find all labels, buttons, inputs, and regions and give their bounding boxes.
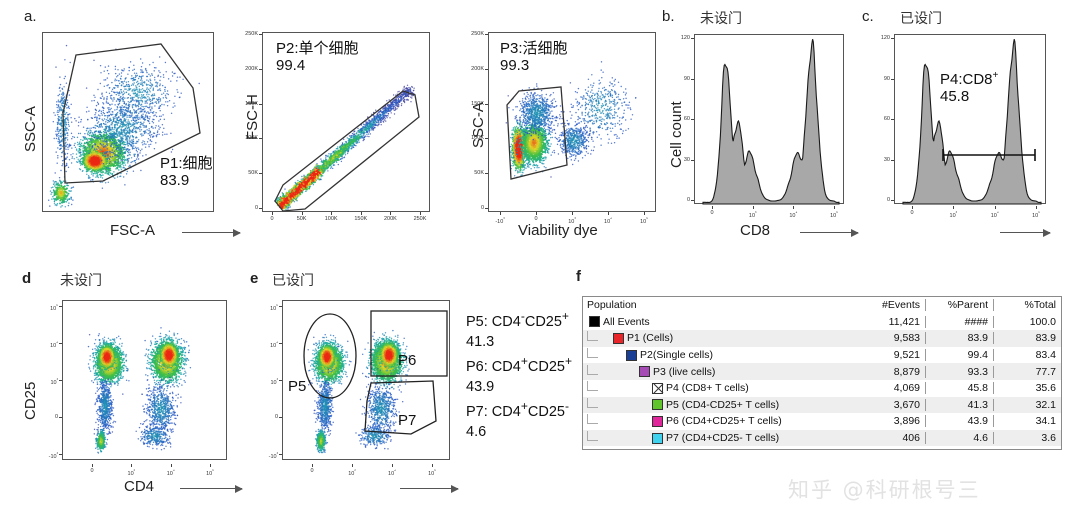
- tick-label: 0: [464, 205, 484, 211]
- tick-label: -10³: [491, 216, 509, 225]
- panel-d-label: d: [22, 270, 31, 287]
- tick-label: 0: [263, 216, 281, 222]
- population-name: P2(Single cells): [640, 349, 713, 361]
- tick-label: 0: [38, 414, 58, 420]
- panel-a-label: a.: [24, 8, 37, 25]
- tree-connector: [587, 381, 598, 391]
- total-cell: 32.1: [993, 399, 1061, 411]
- xaxis-arrow-e: [400, 488, 458, 489]
- panel-d-ylabel: CD25: [22, 382, 39, 420]
- population-name: P6 (CD4+CD25+ T cells): [666, 415, 782, 427]
- population-swatch: [652, 399, 663, 410]
- tick-label: 10⁴: [599, 216, 617, 225]
- tick-label: 0: [238, 205, 258, 211]
- population-swatch: [589, 316, 600, 327]
- table-row[interactable]: P1 (Cells) 9,583 83.9 83.9: [583, 330, 1061, 347]
- population-cell: P6 (CD4+CD25+ T cells): [583, 414, 858, 428]
- parent-cell: 43.9: [925, 415, 993, 427]
- population-name: P4 (CD8+ T cells): [666, 382, 749, 394]
- population-name: P1 (Cells): [627, 332, 673, 344]
- table-row[interactable]: P7 (CD4+CD25- T cells) 406 4.6 3.6: [583, 430, 1061, 447]
- panel-b-label: b.: [662, 8, 675, 25]
- tree-connector: [587, 348, 598, 358]
- plot-p3-xlabel: Viability dye: [518, 222, 598, 239]
- panel-b-histogram[interactable]: [694, 34, 844, 204]
- population-name: All Events: [603, 316, 650, 328]
- population-cell: P4 (CD8+ T cells): [583, 381, 858, 395]
- panel-e-title: 已设门: [272, 270, 314, 290]
- table-row[interactable]: P3 (live cells) 8,879 93.3 77.7: [583, 363, 1061, 380]
- population-swatch: [652, 383, 663, 394]
- tick-label: 200K: [238, 66, 258, 72]
- gate-label-p6: P6: [398, 352, 416, 369]
- population-name: P7 (CD4+CD25- T cells): [666, 432, 779, 444]
- tick-label: 120: [670, 35, 690, 41]
- tick-label: 200K: [464, 66, 484, 72]
- tree-connector: [587, 365, 598, 375]
- tick-label: 0: [703, 210, 721, 216]
- parent-cell: 41.3: [925, 399, 993, 411]
- tick-label: 30: [670, 157, 690, 163]
- panel-f-table[interactable]: Population #Events %Parent %Total All Ev…: [582, 296, 1062, 450]
- tick-label: 250K: [464, 31, 484, 37]
- tick-label: 90: [870, 76, 890, 82]
- parent-cell: 4.6: [925, 432, 993, 444]
- tick-label: 10³: [258, 377, 278, 386]
- total-cell: 35.6: [993, 382, 1061, 394]
- tick-label: 10⁵: [38, 303, 58, 312]
- panel-f-label: f: [576, 268, 581, 285]
- tick-label: 100K: [322, 216, 340, 222]
- legend-value: 41.3: [466, 332, 572, 353]
- population-swatch: [652, 433, 663, 444]
- plot-p1-ylabel: SSC-A: [22, 106, 39, 152]
- tree-connector: [587, 331, 598, 341]
- parent-cell: ####: [925, 316, 993, 328]
- panel-e-label: e: [250, 270, 258, 287]
- population-cell: P1 (Cells): [583, 331, 858, 345]
- total-cell: 3.6: [993, 432, 1061, 444]
- tick-label: 60: [670, 116, 690, 122]
- table-row[interactable]: P2(Single cells) 9,521 99.4 83.4: [583, 347, 1061, 364]
- plot-p3-gate-label: P3:活细胞 99.3: [500, 40, 568, 75]
- population-cell: P7 (CD4+CD25- T cells): [583, 431, 858, 445]
- tick-label: 10⁵: [258, 303, 278, 312]
- tick-label: 10⁵: [423, 468, 441, 477]
- panel-b-title: 未设门: [700, 8, 742, 28]
- panel-e-scatter-dots: [283, 301, 451, 461]
- tick-label: 90: [670, 76, 690, 82]
- col-events: #Events: [858, 299, 925, 311]
- tick-label: 60: [870, 116, 890, 122]
- tick-label: 10⁵: [825, 210, 843, 219]
- plot-p1-xlabel: FSC-A: [110, 222, 155, 239]
- population-swatch: [652, 416, 663, 427]
- tick-label: 0: [903, 210, 921, 216]
- panel-c-gate-label: P4:CD8+ 45.8: [940, 70, 998, 106]
- population-cell: P5 (CD4-CD25+ T cells): [583, 398, 858, 412]
- tick-label: 50K: [464, 170, 484, 176]
- panel-e-legend: P5: CD4-CD25+41.3P6: CD4+CD25+43.9P7: CD…: [466, 308, 572, 443]
- tick-label: 50K: [293, 216, 311, 222]
- watermark: 知乎 @科研根号三: [788, 474, 981, 504]
- tick-label: 200K: [381, 216, 399, 222]
- total-cell: 77.7: [993, 366, 1061, 378]
- legend-entry: P5: CD4-CD25+: [466, 308, 572, 332]
- tick-label: 150K: [464, 101, 484, 107]
- total-cell: 83.4: [993, 349, 1061, 361]
- population-swatch: [626, 350, 637, 361]
- population-name: P5 (CD4-CD25+ T cells): [666, 399, 779, 411]
- total-cell: 100.0: [993, 316, 1061, 328]
- events-cell: 4,069: [858, 382, 925, 394]
- panel-c-hist-curve: [895, 35, 1047, 205]
- events-cell: 9,521: [858, 349, 925, 361]
- population-cell: P3 (live cells): [583, 365, 858, 379]
- panel-d-scatter[interactable]: [62, 300, 227, 460]
- xaxis-arrow-a: [182, 232, 240, 233]
- legend-value: 4.6: [466, 422, 572, 443]
- tick-label: 30: [870, 157, 890, 163]
- table-row[interactable]: P6 (CD4+CD25+ T cells) 3,896 43.9 34.1: [583, 413, 1061, 430]
- events-cell: 3,670: [858, 399, 925, 411]
- population-cell: All Events: [583, 316, 858, 328]
- events-cell: 9,583: [858, 332, 925, 344]
- tick-label: 10⁴: [258, 340, 278, 349]
- tick-label: 10²: [343, 468, 361, 477]
- tree-connector: [587, 398, 598, 408]
- tick-label: 10⁴: [383, 468, 401, 477]
- tick-label: 0: [258, 414, 278, 420]
- table-row[interactable]: All Events 11,421 #### 100.0: [583, 314, 1061, 331]
- col-population: Population: [583, 299, 858, 311]
- xaxis-arrow-c: [1000, 232, 1050, 233]
- tick-label: 10⁵: [635, 216, 653, 225]
- parent-cell: 93.3: [925, 366, 993, 378]
- parent-cell: 83.9: [925, 332, 993, 344]
- panel-d-title: 未设门: [60, 270, 102, 290]
- events-cell: 11,421: [858, 316, 925, 328]
- tick-label: 100K: [464, 135, 484, 141]
- tick-label: 150K: [238, 101, 258, 107]
- panel-e-scatter[interactable]: [282, 300, 450, 460]
- tick-label: 150K: [352, 216, 370, 222]
- panel-c-title: 已设门: [900, 8, 942, 28]
- tick-label: 0: [870, 197, 890, 203]
- legend-entry: P6: CD4+CD25+: [466, 353, 572, 377]
- panel-d-xlabel: CD4: [124, 478, 154, 495]
- gate-label-p5: P5: [288, 378, 306, 395]
- tick-label: 10⁴: [784, 210, 802, 219]
- col-parent: %Parent: [925, 299, 993, 311]
- xaxis-arrow-b: [800, 232, 858, 233]
- panel-c-label: c.: [862, 8, 874, 25]
- table-row[interactable]: P5 (CD4-CD25+ T cells) 3,670 41.3 32.1: [583, 397, 1061, 414]
- legend-value: 43.9: [466, 377, 572, 398]
- parent-cell: 45.8: [925, 382, 993, 394]
- tick-label: 10²: [122, 468, 140, 477]
- population-cell: P2(Single cells): [583, 348, 858, 362]
- gate-label-p7: P7: [398, 412, 416, 429]
- events-cell: 3,896: [858, 415, 925, 427]
- population-swatch: [639, 366, 650, 377]
- tick-label: 250K: [411, 216, 429, 222]
- tick-label: 10⁵: [201, 468, 219, 477]
- plot-p1-gate-label: P1:细胞 83.9: [160, 155, 213, 190]
- tick-label: 10⁵: [1027, 210, 1045, 219]
- tick-label: 0: [83, 468, 101, 474]
- legend-entry: P7: CD4+CD25-: [466, 398, 572, 422]
- panel-b-xlabel: CD8: [740, 222, 770, 239]
- population-name: P3 (live cells): [653, 366, 715, 378]
- events-cell: 406: [858, 432, 925, 444]
- tick-label: 10⁴: [162, 468, 180, 477]
- tick-label: -10³: [38, 451, 58, 460]
- tick-label: 250K: [238, 31, 258, 37]
- tick-label: -10³: [258, 451, 278, 460]
- table-row[interactable]: P4 (CD8+ T cells) 4,069 45.8 35.6: [583, 380, 1061, 397]
- tick-label: 10³: [744, 210, 762, 219]
- table-header-row: Population #Events %Parent %Total: [583, 297, 1061, 314]
- tick-label: 10⁴: [986, 210, 1004, 219]
- tick-label: 120: [870, 35, 890, 41]
- population-swatch: [613, 333, 624, 344]
- total-cell: 83.9: [993, 332, 1061, 344]
- tick-label: 100K: [238, 135, 258, 141]
- panel-c-histogram[interactable]: [894, 34, 1046, 204]
- tick-label: 10³: [944, 210, 962, 219]
- tree-connector: [587, 431, 598, 441]
- parent-cell: 99.4: [925, 349, 993, 361]
- col-total: %Total: [993, 299, 1061, 311]
- total-cell: 34.1: [993, 415, 1061, 427]
- panel-b-hist-curve: [695, 35, 845, 205]
- tick-label: 50K: [238, 170, 258, 176]
- tick-label: 0: [670, 197, 690, 203]
- tick-label: 10³: [38, 377, 58, 386]
- figure-canvas: a. SSC-A P1:细胞 83.9 FSC-A FSC-H P2:单个细胞 …: [0, 0, 1080, 517]
- tree-connector: [587, 414, 598, 424]
- plot-p2-gate-label: P2:单个细胞 99.4: [276, 40, 359, 75]
- panel-d-scatter-dots: [63, 301, 228, 461]
- tick-label: 0: [303, 468, 321, 474]
- events-cell: 8,879: [858, 366, 925, 378]
- xaxis-arrow-d: [180, 488, 242, 489]
- tick-label: 10⁴: [38, 340, 58, 349]
